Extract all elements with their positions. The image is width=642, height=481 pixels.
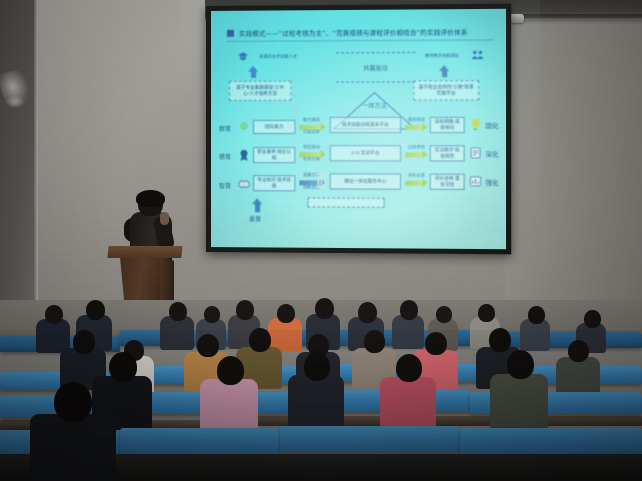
audience-person-body (380, 377, 436, 429)
audience-person-head (54, 382, 92, 422)
wall-light-mark-secondary (4, 95, 26, 109)
pillar-icon (316, 171, 328, 189)
row-2-arrow-label-3: 评价反馈 (405, 173, 428, 179)
audience-person-head (236, 300, 254, 320)
audience-person (200, 356, 258, 426)
projector-screen-surface: 实践模式——“过程考核为主”、“竞赛成绩与课程评价相结合”的实践评价体系 高素质… (211, 9, 506, 249)
row-1-right-node: 实训教学 标准规范 (430, 145, 465, 161)
row-1-center-node: 1+X 实训平台 (330, 145, 401, 161)
up-arrow-right-icon (442, 70, 447, 77)
slide-title-underline (227, 39, 494, 41)
audience-person-head (364, 330, 385, 353)
row-1-arrow-right (405, 152, 423, 157)
audience-person (556, 340, 600, 392)
audience-person (520, 306, 550, 350)
row-label-0: 群育 (219, 124, 231, 133)
row-2-right-node: 评价多样 量化可控 (430, 174, 465, 190)
top-left-subnode: 基于专业集群建设“三中心”人才培养方案 (229, 81, 291, 101)
bench-row-nearest-centerleft (120, 428, 280, 454)
lectern-top (107, 246, 182, 258)
audience-person-head (73, 330, 95, 354)
audience-person-head (45, 305, 63, 324)
audience-person-head (204, 306, 220, 323)
handshake-icon (237, 177, 251, 191)
presenter-hair (136, 190, 165, 207)
audience-person-body (30, 414, 116, 481)
audience-person-head (396, 354, 422, 382)
audience-person-body (288, 375, 344, 429)
audience-person-head (425, 332, 447, 355)
audience-person-head (197, 334, 219, 357)
audience-person-head (249, 328, 271, 352)
row-1-left-node: 职业素养 岗位认知 (253, 147, 295, 163)
up-arrow-left-icon (251, 71, 256, 78)
bottom-dashed-node (307, 197, 384, 207)
bench-row-nearest-right (460, 428, 642, 454)
row-label-1: 德育 (219, 152, 231, 161)
top-left-node-label: 高素质技术技能人才 (251, 54, 305, 60)
row-0-right-label: 固化 (485, 121, 498, 130)
slide-title: 实践模式——“过程考核为主”、“竞赛成绩与课程评价相结合”的实践评价体系 (239, 27, 468, 37)
row-0-arrow-right (405, 125, 423, 130)
lightbulb-icon (469, 118, 482, 131)
audience-person-head (315, 298, 334, 319)
audience-person-head (436, 306, 452, 323)
hexagon-label: 共赢驱动 (363, 63, 387, 72)
row-0-arrow-label-3: 素质养成 (405, 117, 428, 123)
right-wall (505, 18, 642, 328)
hexagon-shape: 共赢驱动 (326, 52, 426, 83)
audience-person (30, 382, 116, 481)
slide-title-row: 实践模式——“过程考核为主”、“竞赛成绩与课程评价相结合”的实践评价体系 (227, 23, 494, 41)
audience-person-body (556, 357, 600, 395)
audience-person-head (507, 350, 534, 379)
graduate-icon (237, 51, 249, 63)
audience-person-head (277, 304, 295, 323)
row-2-center-node: 赛证一体化服务中心 (330, 173, 401, 189)
audience-person (380, 354, 436, 424)
badge-icon (237, 148, 251, 162)
triangle-label: 一体方法 (330, 101, 420, 110)
audience-person-head (304, 352, 330, 381)
row-0-right-node: 目标明确 成果导向 (430, 117, 465, 133)
audience-person-head (358, 302, 377, 323)
audience-person-head (489, 328, 511, 352)
row-2-left-node: 专业知识 技术技能 (253, 175, 295, 191)
row-1-right-label: 深化 (485, 149, 498, 158)
row-1-arrow-label-1: 项目驱动 (299, 144, 323, 150)
row-1-arrow-label-2: 任务引领 (299, 156, 323, 162)
medal-icon (238, 121, 250, 133)
row-0-arrow-label-1: 能力递进 (299, 117, 323, 123)
wall-corner-edge (34, 0, 38, 300)
square-bullet-icon (227, 29, 234, 36)
chart-icon (469, 175, 482, 188)
team-icon (471, 49, 484, 62)
row-2-arrow-right (405, 181, 423, 186)
bottom-label: 美育 (249, 214, 261, 223)
bench-row-nearest-centerright (280, 426, 460, 452)
top-right-subnode: 基于校企合作的“三教”改革实施平台 (413, 80, 479, 100)
left-wall-shadow (0, 0, 36, 300)
audience-person-head (584, 310, 601, 328)
audience-person-head (568, 340, 589, 362)
audience-person-head (109, 352, 137, 382)
audience-person-head (528, 306, 545, 324)
row-2-right-label: 强化 (485, 178, 498, 187)
presenter-hand (160, 212, 169, 225)
audience-person-body (490, 374, 548, 429)
audience-person (288, 352, 344, 424)
row-1-arrow-label-3: 过程考核 (405, 144, 428, 150)
audience-person-head (169, 302, 187, 321)
bottom-up-arrow-icon (255, 203, 260, 212)
audience-person-head (478, 304, 495, 322)
audience-person (490, 350, 548, 424)
audience-person-head (400, 300, 418, 320)
projector-screen-frame: 实践模式——“过程考核为主”、“竞赛成绩与课程评价相结合”的实践评价体系 高素质… (206, 4, 511, 255)
audience-person-head (86, 300, 105, 320)
top-right-node-label: 教师教学创新团队 (413, 53, 471, 59)
document-icon (469, 146, 482, 159)
audience-person-body (200, 379, 258, 431)
row-0-left-node: 团队能力 (253, 120, 295, 134)
presentation-slide: 实践模式——“过程考核为主”、“竞赛成绩与课程评价相结合”的实践评价体系 高素质… (211, 9, 506, 249)
row-0-center-node: 技术技能训练基本平台 (330, 117, 401, 133)
lecture-hall-photo: 实践模式——“过程考核为主”、“竞赛成绩与课程评价相结合”的实践评价体系 高素质… (0, 0, 642, 481)
row-0-arrow-label-2: 分层培养 (299, 129, 323, 134)
audience-person-head (217, 356, 244, 385)
row-label-2: 智育 (219, 181, 231, 190)
